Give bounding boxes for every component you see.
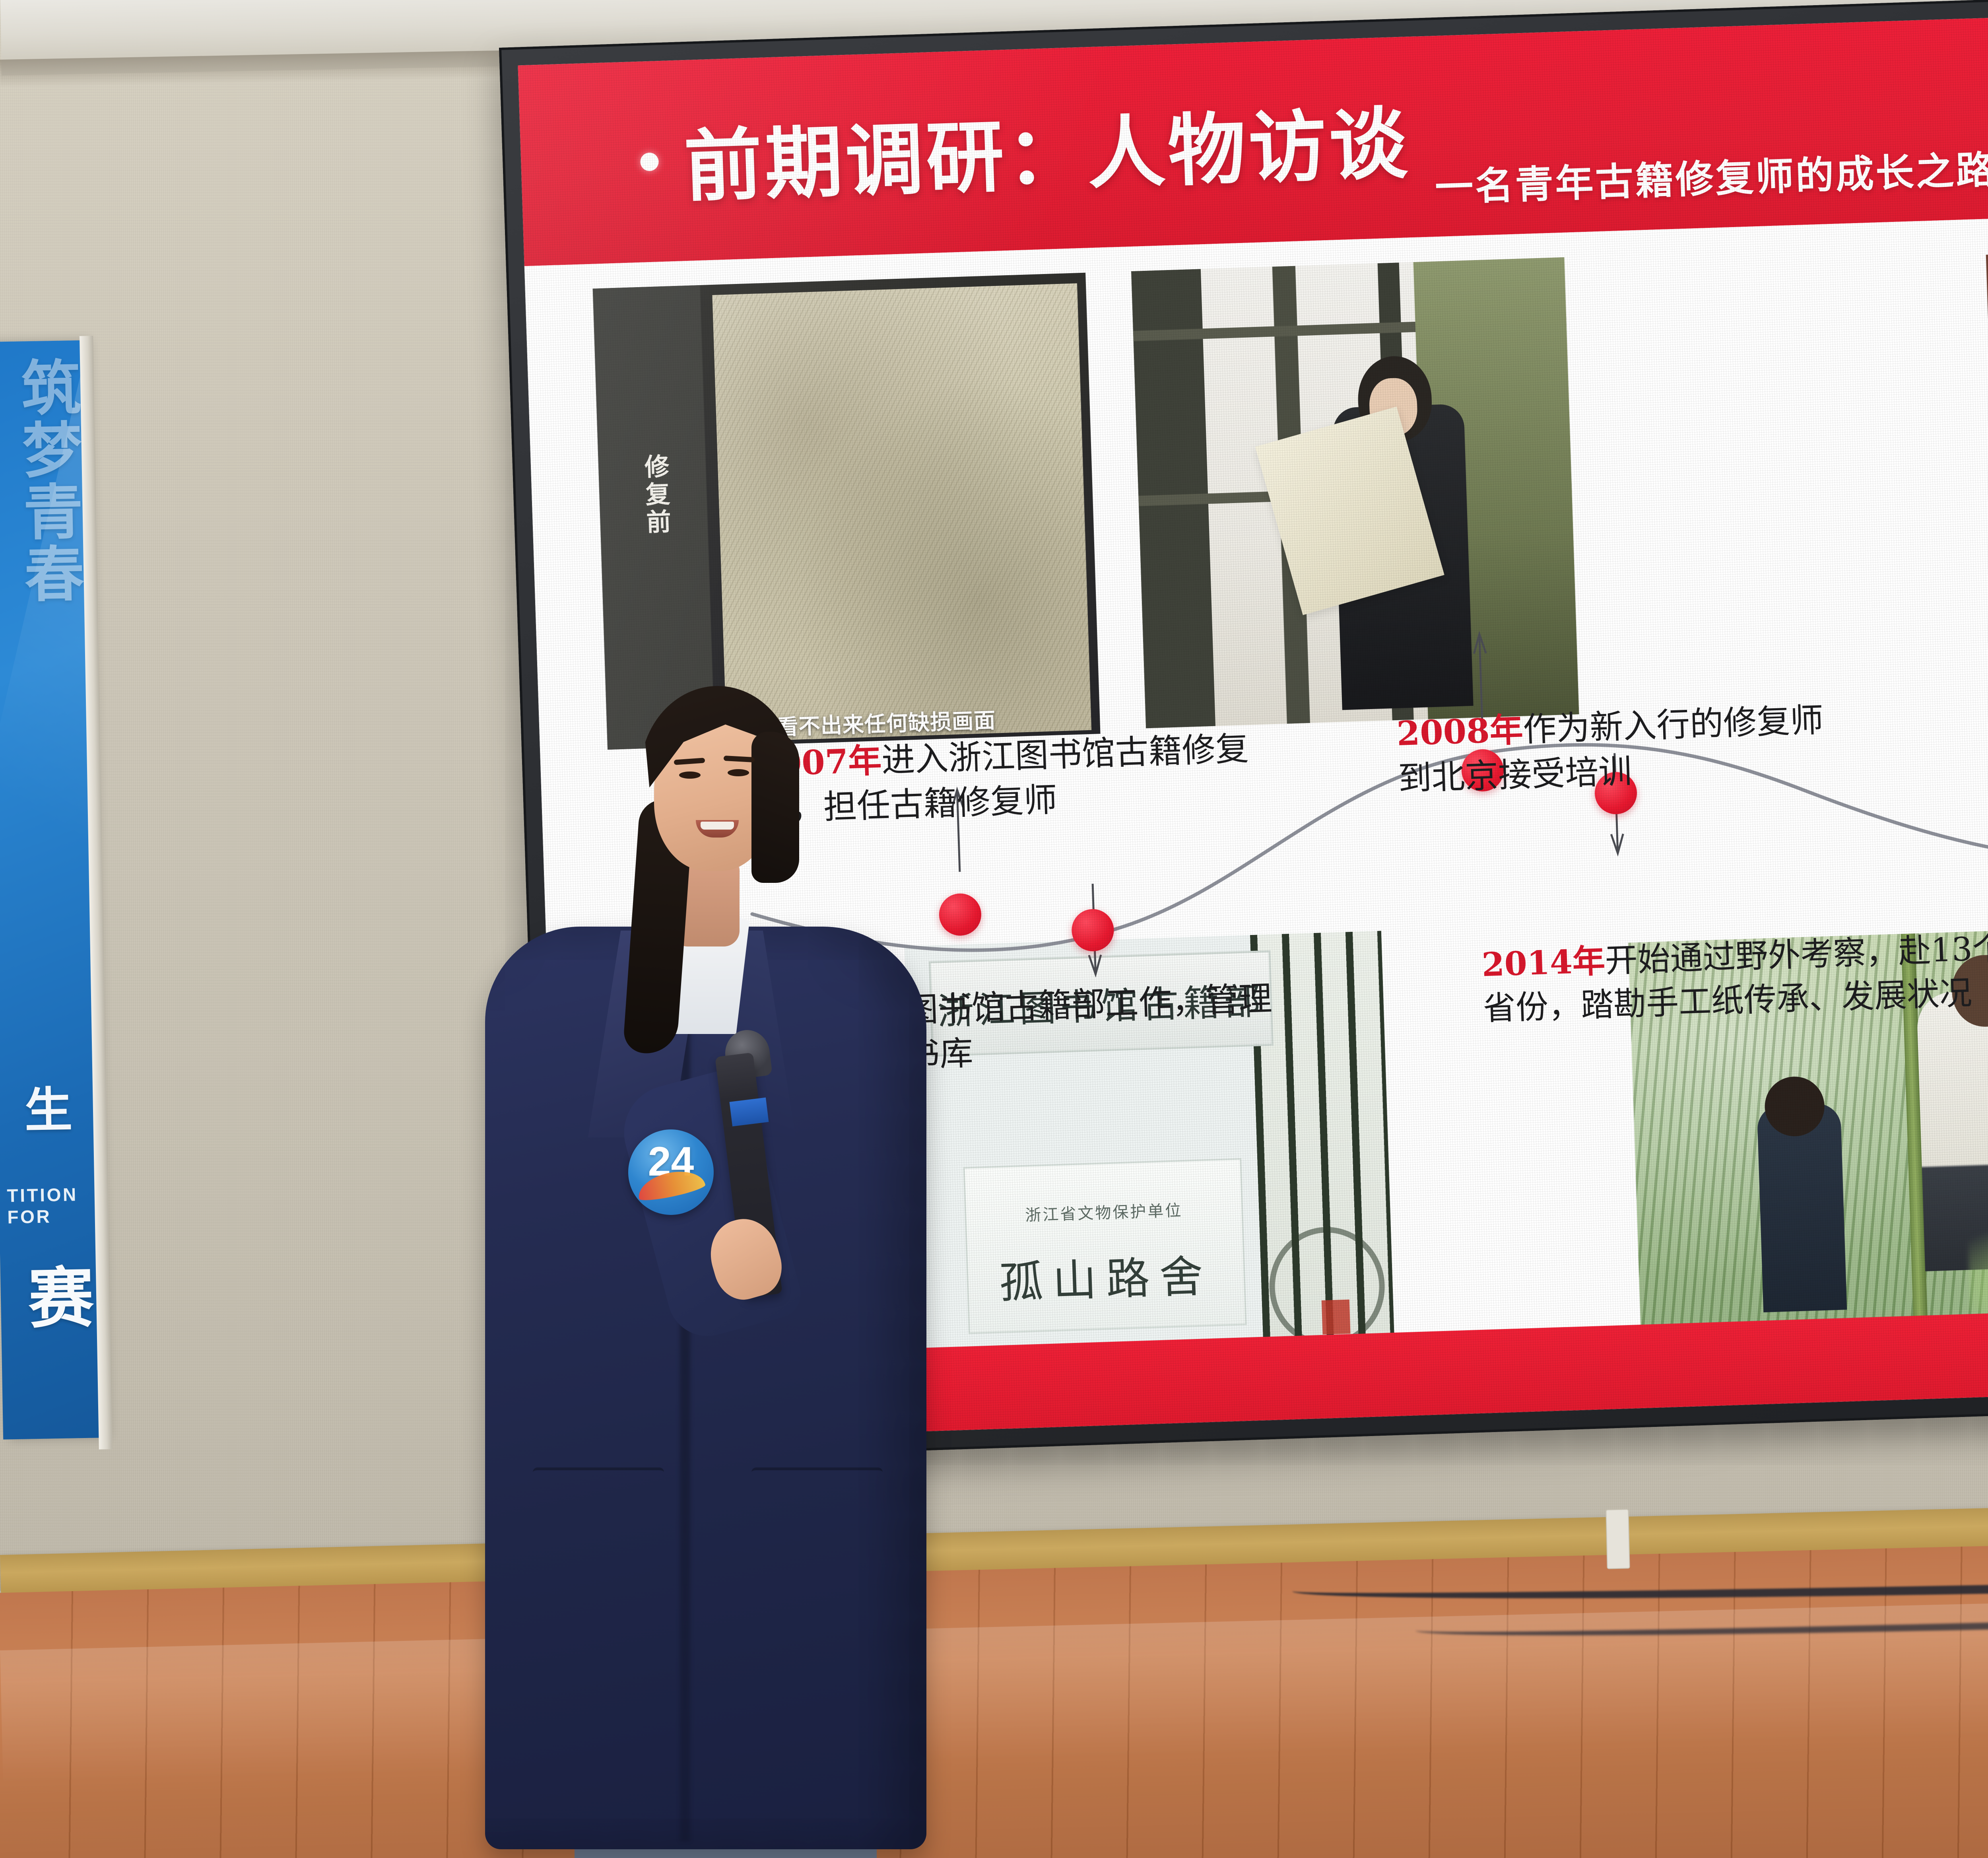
wood-background <box>1986 239 1988 775</box>
presenter-hair-side <box>751 732 799 883</box>
banner-line-2: 生 <box>9 1084 79 1135</box>
wall-outlet <box>1606 1509 1630 1569</box>
slide-title: 前期调研：人物访谈 <box>682 81 1411 217</box>
banner-line-1: 筑梦青春 <box>3 356 93 606</box>
presenter-teeth <box>701 822 734 830</box>
plaque-subtext: 浙江省文物保护单位 <box>966 1195 1242 1227</box>
presenter-eye-left <box>679 772 701 779</box>
banner-line-3: 赛 <box>7 1263 103 1333</box>
coat-pocket-right <box>751 1467 883 1567</box>
contestant-number-badge: 24 <box>628 1129 714 1215</box>
photo-panel-label: 修复前 <box>636 453 675 537</box>
microphone-label-band <box>730 1098 769 1127</box>
photo-book-cover-xunzhi: 寻纸 可触碰的「非物质文化遗产」 25种古法手工纸样 7年踏遍全国13个省、自治… <box>1986 239 1988 775</box>
coat-front-fold <box>680 943 690 1841</box>
timeline-year: 2008年 <box>1396 710 1524 753</box>
heritage-plaque: 浙江省文物保护单位 孤山路舍 <box>963 1158 1246 1334</box>
timeline-entry-2008: 2008年作为新入行的修复师到北京接受培训 <box>1396 698 1828 801</box>
scene-photograph: 筑梦青春 生 TITION FOR 赛 前期调研：人物访谈 一名青年古籍修复师的… <box>0 0 1988 1858</box>
presenter: 24 <box>473 601 982 1857</box>
coat-pocket-left <box>533 1467 664 1567</box>
banner-english-line: TITION FOR <box>7 1184 71 1228</box>
red-seal-mark <box>1322 1300 1351 1335</box>
timeline-entry-2014: 2014年开始通过野外考察，赴13个省份，踏勘手工纸传承、发展状况 <box>1481 926 1988 1031</box>
photo-restorer-examining-paper <box>1131 257 1579 729</box>
presenter-eye-right <box>728 769 749 776</box>
bullet-dot-icon <box>640 152 659 171</box>
slide-subtitle: 一名青年古籍修复师的成长之路 <box>1434 139 1988 212</box>
timeline-year: 2014年 <box>1481 942 1606 984</box>
plaque-text: 孤山路舍 <box>967 1239 1244 1312</box>
